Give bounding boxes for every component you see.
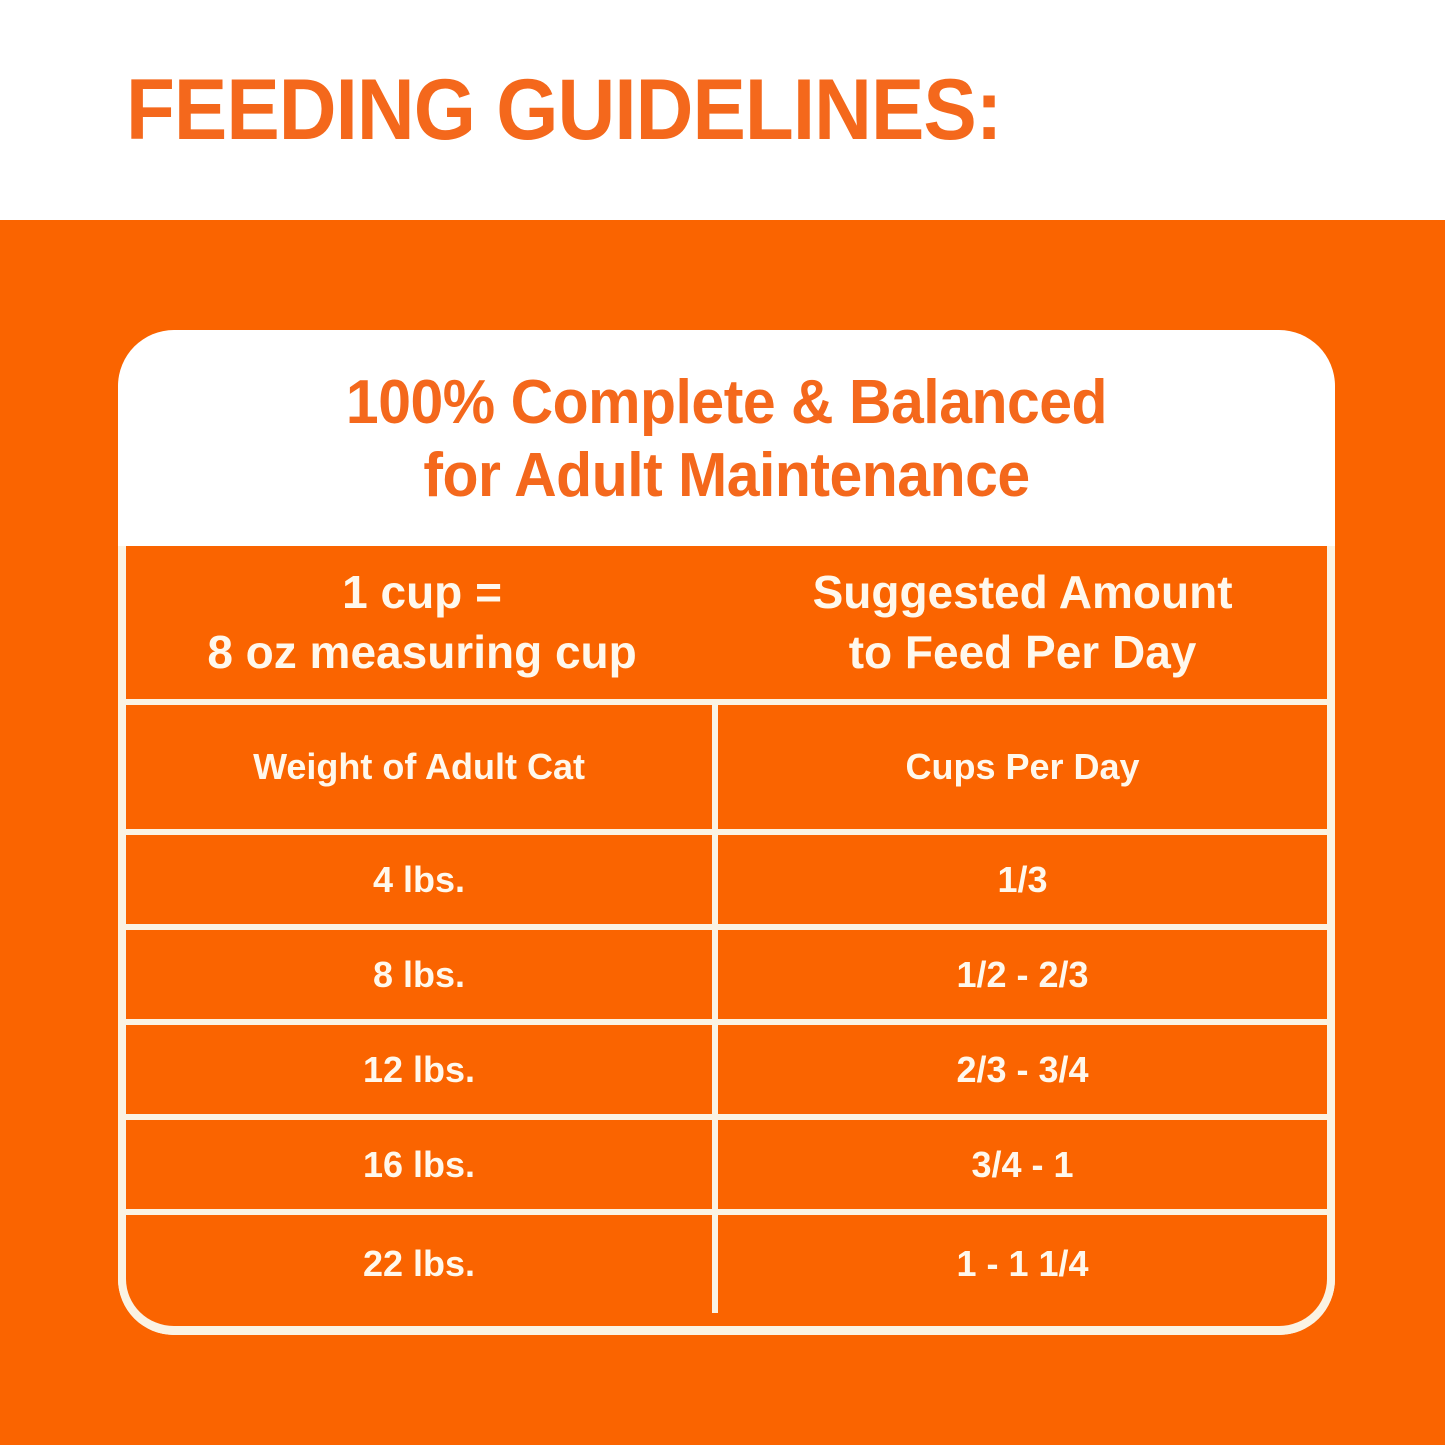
table-row: 4 lbs. 1/3 — [126, 835, 1327, 930]
cell-cups: 2/3 - 3/4 — [718, 1025, 1327, 1114]
banner-cup-definition: 1 cup = 8 oz measuring cup — [126, 563, 718, 683]
page-title: FEEDING GUIDELINES: — [126, 67, 1002, 153]
table-row: 12 lbs. 2/3 - 3/4 — [126, 1025, 1327, 1120]
cell-weight: 16 lbs. — [126, 1120, 718, 1209]
cell-cups: 1/2 - 2/3 — [718, 930, 1327, 1019]
table-row: 22 lbs. 1 - 1 1/4 — [126, 1215, 1327, 1313]
feeding-guidelines-panel: FEEDING GUIDELINES: 100% Complete & Bala… — [0, 0, 1445, 1445]
column-header-weight: Weight of Adult Cat — [126, 705, 718, 829]
banner-amount-line-1: Suggested Amount — [718, 563, 1327, 623]
cell-weight: 8 lbs. — [126, 930, 718, 1019]
cell-weight: 12 lbs. — [126, 1025, 718, 1114]
card-title: 100% Complete & Balanced for Adult Maint… — [148, 330, 1304, 512]
column-header-cups: Cups Per Day — [718, 705, 1327, 829]
cell-weight: 22 lbs. — [126, 1215, 718, 1313]
orange-background: 100% Complete & Balanced for Adult Maint… — [0, 220, 1445, 1445]
banner-cup-line-2: 8 oz measuring cup — [126, 623, 718, 683]
cell-weight: 4 lbs. — [126, 835, 718, 924]
guidelines-card: 100% Complete & Balanced for Adult Maint… — [118, 330, 1335, 1335]
card-title-line-2: for Adult Maintenance — [148, 439, 1304, 512]
table-banner-row: 1 cup = 8 oz measuring cup Suggested Amo… — [126, 546, 1327, 705]
table-banner-text: 1 cup = 8 oz measuring cup Suggested Amo… — [126, 563, 1327, 683]
table-row: 16 lbs. 3/4 - 1 — [126, 1120, 1327, 1215]
banner-cup-line-1: 1 cup = — [126, 563, 718, 623]
card-title-line-1: 100% Complete & Balanced — [148, 366, 1304, 439]
table-row: 8 lbs. 1/2 - 2/3 — [126, 930, 1327, 1025]
feeding-table: 1 cup = 8 oz measuring cup Suggested Amo… — [118, 546, 1335, 1335]
cell-cups: 1/3 — [718, 835, 1327, 924]
header-band: FEEDING GUIDELINES: — [0, 0, 1445, 220]
table-header-row: Weight of Adult Cat Cups Per Day — [126, 705, 1327, 835]
cell-cups: 3/4 - 1 — [718, 1120, 1327, 1209]
cell-cups: 1 - 1 1/4 — [718, 1215, 1327, 1313]
banner-suggested-amount: Suggested Amount to Feed Per Day — [718, 563, 1327, 683]
banner-amount-line-2: to Feed Per Day — [718, 623, 1327, 683]
